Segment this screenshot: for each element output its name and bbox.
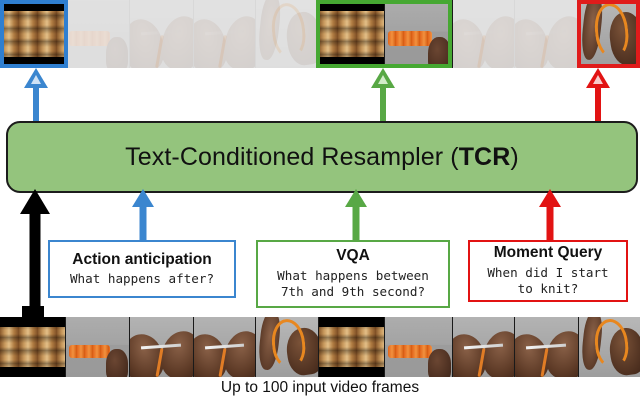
- input-frame-7[interactable]: [385, 317, 453, 377]
- output-frame-6[interactable]: [319, 0, 385, 68]
- frame-art-yarnrow: [66, 0, 129, 68]
- arrow-head: [132, 189, 154, 207]
- input-frame-6[interactable]: [319, 317, 385, 377]
- query-question-line-2: to knit?: [487, 281, 608, 297]
- query-box-moment-query[interactable]: Moment Query When did I start to knit?: [468, 240, 628, 302]
- tcr-module[interactable]: Text-Conditioned Resampler (TCR): [6, 121, 638, 193]
- frame-art-yarnrow: [385, 0, 452, 68]
- arrow-shaft: [30, 207, 41, 317]
- arrow-video-to-tcr: [20, 189, 50, 317]
- arrow-shaft: [353, 201, 360, 241]
- query-box-vqa[interactable]: VQA What happens between 7th and 9th sec…: [256, 240, 450, 308]
- arrow-tcr-to-blue-frame: [24, 68, 48, 121]
- arrow-action-anticipation-to-tcr: [131, 189, 155, 241]
- arrow-head: [539, 189, 561, 207]
- frame-art-knit: [0, 0, 65, 68]
- input-frame-3[interactable]: [130, 317, 194, 377]
- diagram-canvas: Text-Conditioned Resampler (TCR) Action …: [0, 0, 640, 402]
- input-frame-1[interactable]: [0, 317, 66, 377]
- input-frame-9[interactable]: [515, 317, 579, 377]
- output-frame-7[interactable]: [385, 0, 453, 68]
- arrow-shaft: [595, 86, 601, 121]
- query-question: When did I start to knit?: [487, 265, 608, 297]
- arrow-shaft: [140, 201, 147, 241]
- input-frame-5[interactable]: [256, 317, 319, 377]
- frame-art-hands: [130, 0, 193, 68]
- arrow-head-inner-icon: [31, 75, 41, 84]
- input-strip-caption: Up to 100 input video frames: [0, 379, 640, 397]
- input-video-frames-strip: [0, 317, 640, 377]
- frame-art-knit: [319, 317, 384, 377]
- selected-output-frames-strip: [0, 0, 640, 68]
- input-frame-4[interactable]: [194, 317, 256, 377]
- arrow-vqa-to-tcr: [344, 189, 368, 241]
- query-box-action-anticipation[interactable]: Action anticipation What happens after?: [48, 240, 236, 298]
- tcr-label-acronym: TCR: [459, 143, 511, 171]
- output-frame-9[interactable]: [515, 0, 579, 68]
- arrow-shaft: [380, 86, 386, 121]
- query-title: VQA: [336, 247, 370, 265]
- arrow-shaft: [547, 201, 554, 241]
- input-frame-2[interactable]: [66, 317, 130, 377]
- output-frame-2[interactable]: [66, 0, 130, 68]
- arrow-head-inner-icon: [593, 75, 603, 84]
- output-frame-4[interactable]: [194, 0, 256, 68]
- frame-art-knit: [319, 0, 384, 68]
- arrow-shaft: [33, 86, 39, 121]
- frame-art-yarnrow: [66, 317, 129, 377]
- query-title: Action anticipation: [72, 251, 212, 269]
- arrow-tcr-to-green-frames: [371, 68, 395, 121]
- input-frame-10[interactable]: [579, 317, 640, 377]
- frame-art-hands: [515, 0, 578, 68]
- input-frame-8[interactable]: [453, 317, 515, 377]
- output-frame-5[interactable]: [256, 0, 319, 68]
- query-question-line-1: When did I start: [487, 265, 608, 281]
- tcr-module-label: Text-Conditioned Resampler (TCR): [125, 143, 519, 172]
- arrow-head-inner-icon: [378, 75, 388, 84]
- frame-art-knit: [0, 317, 65, 377]
- arrow-tcr-to-red-frame: [586, 68, 610, 121]
- output-frame-10[interactable]: [579, 0, 640, 68]
- output-frame-1[interactable]: [0, 0, 66, 68]
- frame-art-yarnrow: [385, 317, 452, 377]
- arrow-head: [20, 189, 50, 214]
- arrow-moment-query-to-tcr: [538, 189, 562, 241]
- query-question-line-2: 7th and 9th second?: [277, 284, 429, 300]
- tcr-label-suffix: ): [510, 143, 518, 171]
- query-question-line-1: What happens between: [277, 268, 429, 284]
- query-question: What happens after?: [70, 271, 214, 287]
- arrow-head: [345, 189, 367, 207]
- tcr-label-prefix: Text-Conditioned Resampler (: [125, 143, 459, 171]
- output-frame-3[interactable]: [130, 0, 194, 68]
- output-frame-8[interactable]: [453, 0, 515, 68]
- query-title: Moment Query: [494, 244, 603, 262]
- query-question: What happens between 7th and 9th second?: [277, 268, 429, 300]
